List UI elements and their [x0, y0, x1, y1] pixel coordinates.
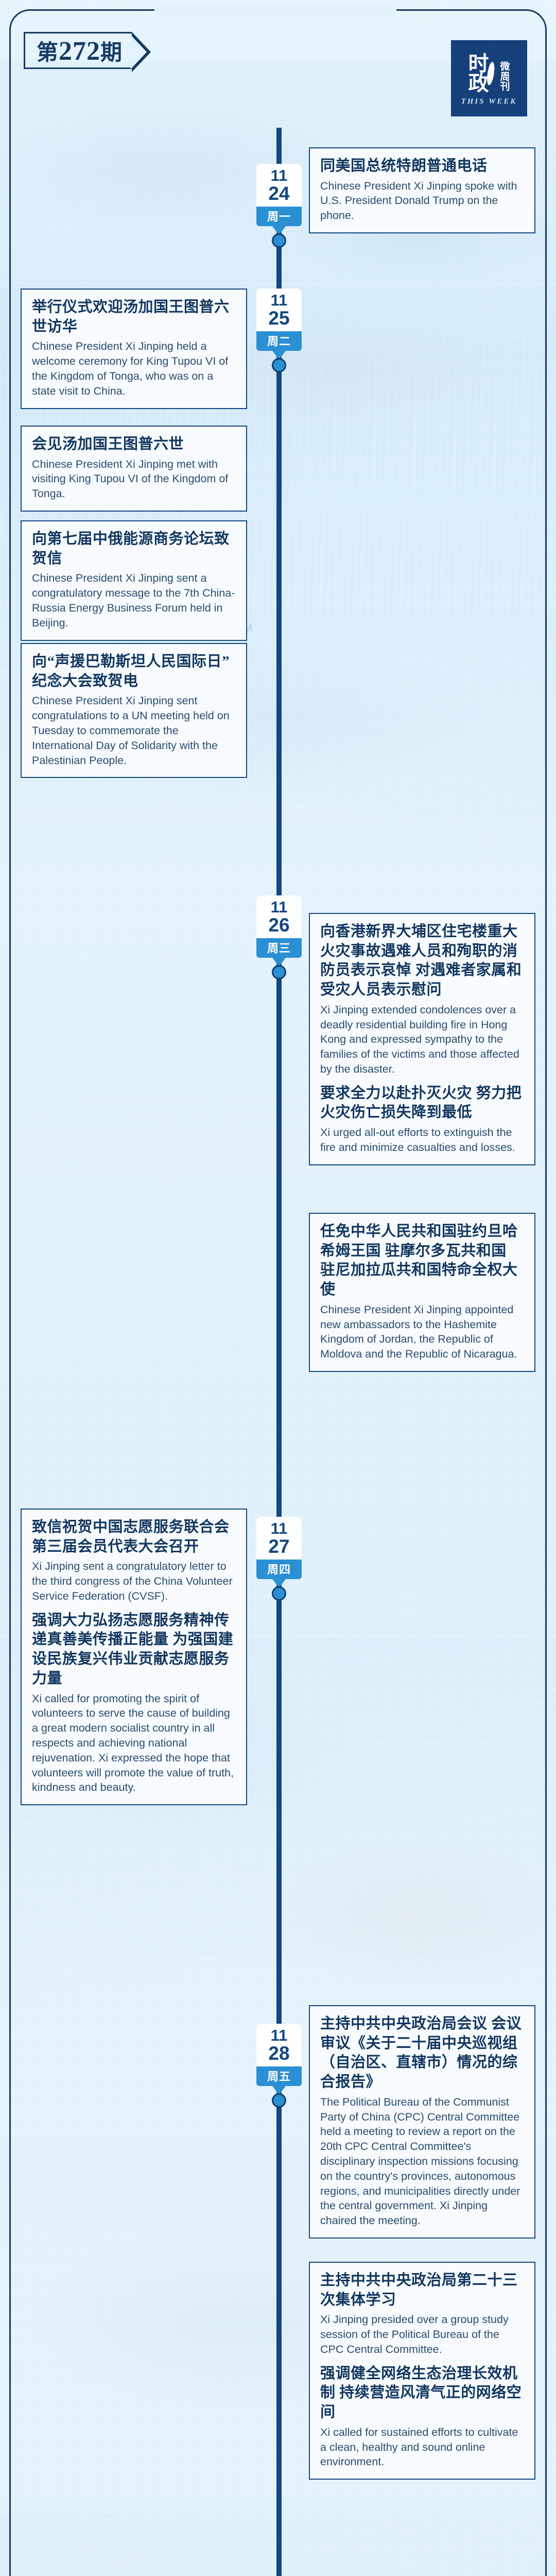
- brand-char-kan: 刊: [500, 82, 510, 92]
- date-day: 25: [256, 309, 302, 328]
- date-month: 11: [256, 292, 302, 309]
- news-headline-cn: 强调健全网络生态治理长效机制 持续营造风清气正的网络空间: [320, 2364, 524, 2422]
- date-day: 28: [256, 2044, 302, 2063]
- news-summary-en: Chinese President Xi Jinping spoke with …: [320, 179, 524, 223]
- date-badge-11-27: 1127周四: [256, 1517, 302, 1601]
- news-headline-cn: 向香港新界大埔区住宅楼重大火灾事故遇难人员和殉职的消防员表示哀悼 对遇难者家属和…: [320, 922, 524, 1000]
- news-headline-cn: 强调大力弘扬志愿服务精神传递真善美传播正能量 为强国建设民族复兴伟业贡献志愿服务…: [32, 1611, 236, 1689]
- news-summary-en: Xi called for promoting the spirit of vo…: [32, 1691, 236, 1795]
- date-month: 11: [256, 2027, 302, 2044]
- date-badge-11-25: 1125周二: [256, 289, 302, 372]
- news-card[interactable]: 向香港新界大埔区住宅楼重大火灾事故遇难人员和殉职的消防员表示哀悼 对遇难者家属和…: [309, 913, 535, 1165]
- date-month: 11: [256, 1520, 302, 1537]
- news-summary-en: Xi urged all-out efforts to extinguish t…: [320, 1125, 524, 1155]
- brand-english-tagline: THIS WEEK: [461, 97, 517, 106]
- timeline-dot-icon: [272, 965, 286, 979]
- news-card[interactable]: 主持中共中央政治局会议 会议审议《关于二十届中央巡视组（自治区、直辖市）情况的综…: [309, 2005, 535, 2239]
- brand-char-zhou: 周: [500, 72, 510, 82]
- date-day: 24: [256, 184, 302, 204]
- news-headline-cn: 向“声援巴勒斯坦人民国际日”纪念大会致贺电: [32, 652, 236, 691]
- issue-suffix: 期: [100, 41, 123, 65]
- brand-char-shi: 时: [468, 54, 488, 74]
- date-month-day: 1127: [256, 1517, 302, 1560]
- news-summary-en: The Political Bureau of the Communist Pa…: [320, 2095, 524, 2228]
- date-badge-11-24: 1124周一: [256, 164, 302, 248]
- timeline-spine: [276, 128, 282, 2576]
- news-card[interactable]: 任免中华人民共和国驻约旦哈希姆王国 驻摩尔多瓦共和国 驻尼加拉瓜共和国特命全权大…: [309, 1213, 535, 1372]
- date-badge-11-26: 1126周三: [256, 895, 302, 979]
- news-summary-en: Xi Jinping presided over a group study s…: [320, 2312, 524, 2357]
- news-headline-cn: 会见汤加国王图普六世: [32, 435, 236, 454]
- timeline-dot-icon: [272, 358, 286, 372]
- news-card[interactable]: 向第七届中俄能源商务论坛致贺信Chinese President Xi Jinp…: [21, 520, 247, 641]
- brand-logo: 时 政 微 周 刊 THIS WEEK: [451, 40, 527, 116]
- date-month: 11: [256, 167, 302, 184]
- news-summary-en: Xi Jinping sent a congratulatory letter …: [32, 1559, 236, 1603]
- date-weekday: 周一: [256, 207, 302, 226]
- news-summary-en: Xi called for sustained efforts to culti…: [320, 2425, 524, 2469]
- date-month-day: 1128: [256, 2024, 302, 2066]
- news-card[interactable]: 举行仪式欢迎汤加国王图普六世访华Chinese President Xi Jin…: [21, 289, 247, 409]
- news-summary-en: Chinese President Xi Jinping held a welc…: [32, 339, 236, 398]
- news-card[interactable]: 同美国总统特朗普通电话Chinese President Xi Jinping …: [309, 147, 535, 233]
- issue-number-chip: 第272期: [24, 32, 132, 69]
- news-summary-en: Chinese President Xi Jinping appointed n…: [320, 1302, 524, 1362]
- issue-prefix: 第: [37, 41, 59, 65]
- date-badge-11-28: 1128周五: [256, 2024, 302, 2108]
- news-headline-cn: 致信祝贺中国志愿服务联合会第三届会员代表大会召开: [32, 1518, 236, 1556]
- news-headline-cn: 同美国总统特朗普通电话: [320, 157, 524, 176]
- news-headline-cn: 主持中共中央政治局第二十三次集体学习: [320, 2271, 524, 2310]
- date-month-day: 1124: [256, 164, 302, 207]
- date-month: 11: [256, 899, 302, 916]
- date-weekday: 周四: [256, 1560, 302, 1579]
- date-weekday: 周五: [256, 2066, 302, 2086]
- timeline-dot-icon: [272, 233, 286, 248]
- frame-top-gap: [154, 4, 396, 16]
- date-month-day: 1125: [256, 289, 302, 331]
- news-headline-cn: 举行仪式欢迎汤加国王图普六世访华: [32, 298, 236, 336]
- timeline-dot-icon: [272, 1586, 286, 1601]
- date-weekday: 周二: [256, 331, 302, 351]
- brand-characters: 时 政 微 周 刊: [468, 54, 510, 93]
- date-weekday: 周三: [256, 938, 302, 958]
- issue-label: 第272期: [37, 35, 123, 66]
- news-summary-en: Xi Jinping extended condolences over a d…: [320, 1003, 524, 1077]
- news-headline-cn: 主持中共中央政治局会议 会议审议《关于二十届中央巡视组（自治区、直辖市）情况的综…: [320, 2014, 524, 2092]
- date-month-day: 1126: [256, 895, 302, 938]
- date-day: 26: [256, 916, 302, 935]
- news-summary-en: Chinese President Xi Jinping sent congra…: [32, 693, 236, 768]
- brand-char-wei: 微: [500, 62, 510, 72]
- news-headline-cn: 要求全力以赴扑灭火灾 努力把火灾伤亡损失降到最低: [320, 1084, 524, 1123]
- issue-number: 272: [59, 37, 100, 66]
- news-card[interactable]: 会见汤加国王图普六世Chinese President Xi Jinping m…: [21, 426, 247, 512]
- news-summary-en: Chinese President Xi Jinping sent a cong…: [32, 571, 236, 630]
- news-summary-en: Chinese President Xi Jinping met with vi…: [32, 457, 236, 501]
- news-card[interactable]: 主持中共中央政治局第二十三次集体学习Xi Jinping presided ov…: [309, 2262, 535, 2480]
- timeline-dot-icon: [272, 2093, 286, 2108]
- brand-sub-characters: 微 周 刊: [500, 62, 510, 93]
- news-card[interactable]: 致信祝贺中国志愿服务联合会第三届会员代表大会召开Xi Jinping sent …: [21, 1509, 247, 1805]
- news-headline-cn: 向第七届中俄能源商务论坛致贺信: [32, 530, 236, 568]
- date-day: 27: [256, 1537, 302, 1556]
- news-card[interactable]: 向“声援巴勒斯坦人民国际日”纪念大会致贺电Chinese President X…: [21, 643, 247, 778]
- news-headline-cn: 任免中华人民共和国驻约旦哈希姆王国 驻摩尔多瓦共和国 驻尼加拉瓜共和国特命全权大…: [320, 1222, 524, 1300]
